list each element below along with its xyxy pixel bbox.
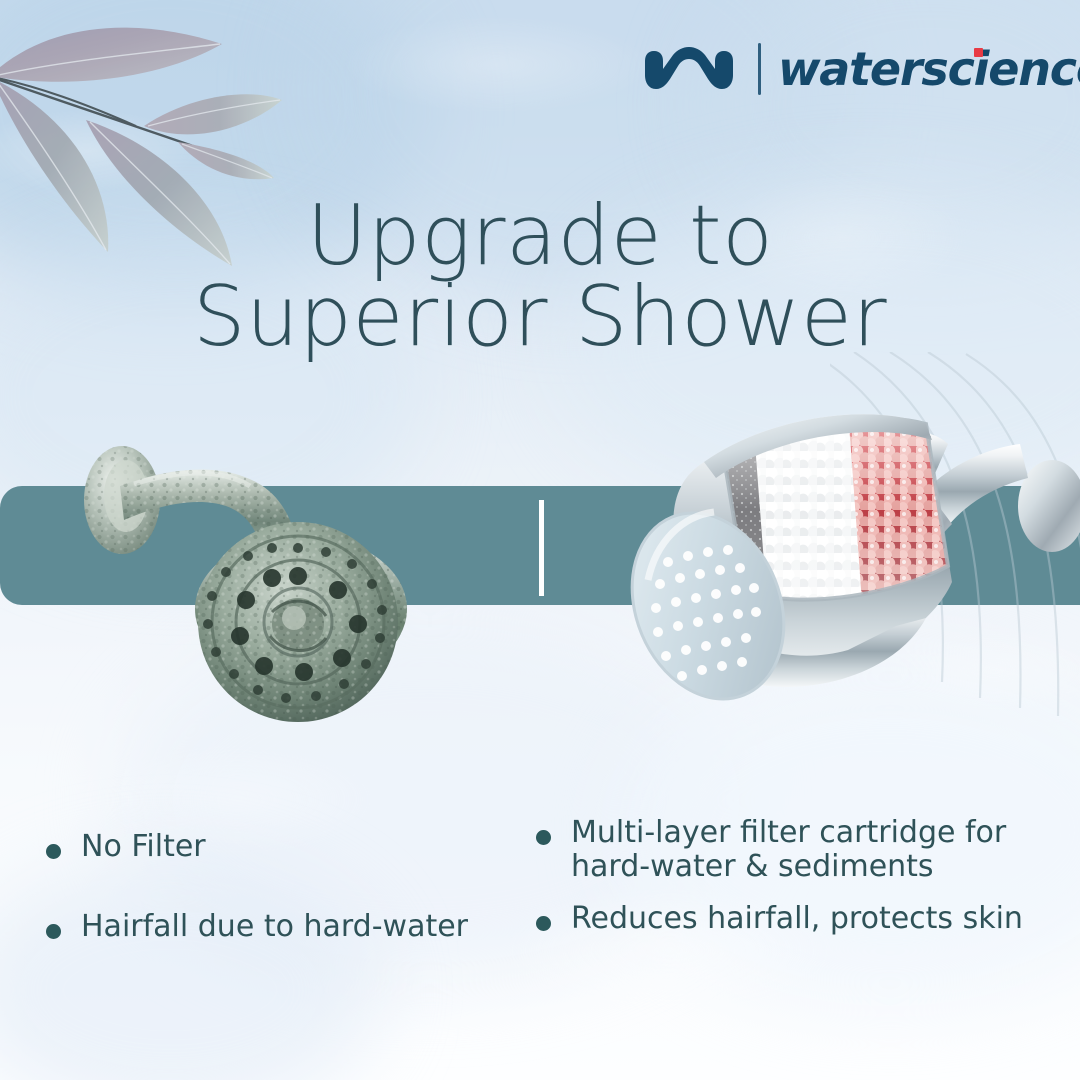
bullet-dot-icon xyxy=(46,924,61,939)
bullet-dot-icon xyxy=(46,844,61,859)
page-title: Upgrade to Superior Shower xyxy=(0,196,1080,357)
filter-showerhead-image xyxy=(596,366,1080,766)
old-showerhead-image xyxy=(58,404,458,734)
brand-logo[interactable]: waterscience TM xyxy=(645,38,1080,100)
bullet-text: Reduces hairfall, protects skin xyxy=(571,902,1023,936)
list-item: Multi-layer filter cartridge for hard-wa… xyxy=(536,816,1076,884)
w-logo-icon xyxy=(645,45,741,93)
bullet-text: Hairfall due to hard-water xyxy=(81,910,468,944)
comparison-bullets: No Filter Hairfall due to hard-water Mul… xyxy=(0,826,1080,996)
list-item: Reduces hairfall, protects skin xyxy=(536,902,1076,936)
list-item: No Filter xyxy=(46,830,516,864)
band-divider xyxy=(539,500,544,596)
wordmark-red-dot xyxy=(974,48,983,57)
logo-divider xyxy=(758,43,761,95)
headline-line-2: Superior Shower xyxy=(0,277,1080,358)
bullets-column-left: No Filter Hairfall due to hard-water xyxy=(46,826,516,944)
brand-wordmark: waterscience TM xyxy=(778,46,1080,92)
list-item: Hairfall due to hard-water xyxy=(46,910,516,944)
wordmark-text: waterscience xyxy=(778,42,1080,96)
bullet-dot-icon xyxy=(536,916,551,931)
poster-canvas: waterscience TM Upgrade to Superior Show… xyxy=(0,0,1080,1080)
bullet-text: Multi-layer filter cartridge for hard-wa… xyxy=(571,816,1076,884)
bullet-text: No Filter xyxy=(81,830,206,864)
headline-line-1: Upgrade to xyxy=(0,196,1080,277)
bullets-column-right: Multi-layer filter cartridge for hard-wa… xyxy=(536,826,1076,937)
bullet-dot-icon xyxy=(536,830,551,845)
